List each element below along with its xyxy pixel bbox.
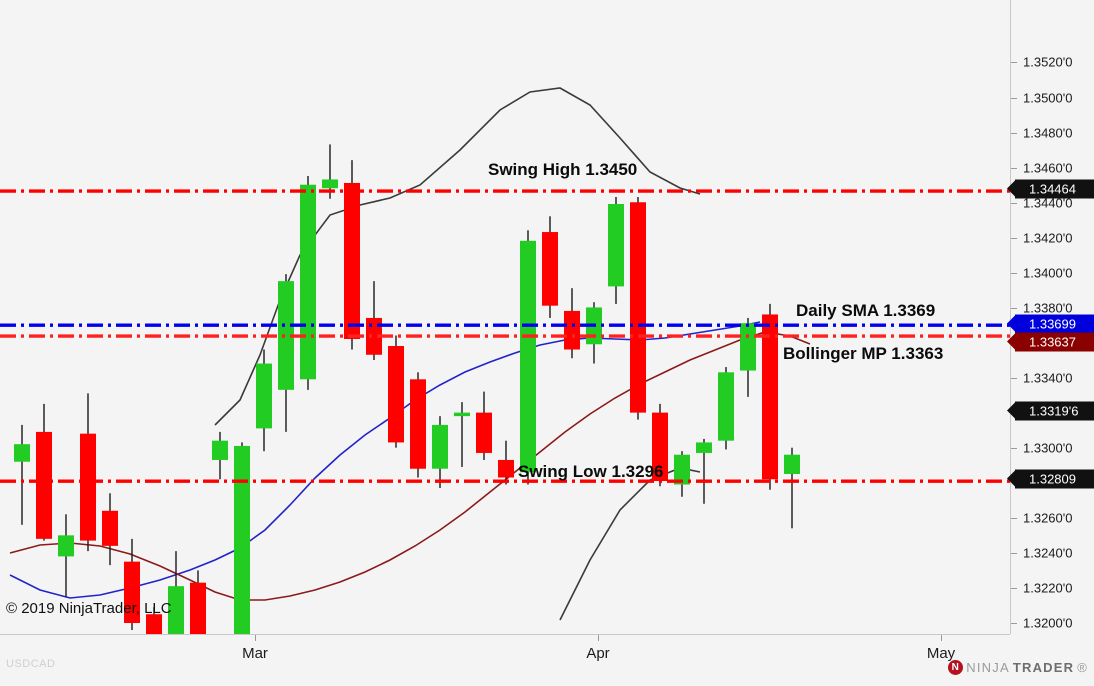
- candle[interactable]: [674, 451, 690, 497]
- price-marker-badge[interactable]: 1.33699: [1015, 315, 1094, 334]
- price-marker-value: 1.34464: [1029, 182, 1076, 197]
- candle[interactable]: [498, 441, 514, 485]
- price-tick-label: 1.3500'0: [1023, 91, 1072, 106]
- chart-application: 2/11/2019 - 4/9/2019 USD/CAD 4/9/19 K F …: [0, 0, 1094, 685]
- series-line: [10, 322, 760, 598]
- price-marker-value: 1.33637: [1029, 335, 1076, 350]
- price-marker-value: 1.33699: [1029, 317, 1076, 332]
- price-tick-label: 1.3220'0: [1023, 581, 1072, 596]
- bollinger-mp-label: Bollinger MP 1.3363: [783, 344, 943, 364]
- price-tick-label: 1.3480'0: [1023, 126, 1072, 141]
- logo-trademark: ®: [1077, 660, 1088, 675]
- price-marker-value: 1.32809: [1029, 472, 1076, 487]
- price-marker-badge[interactable]: 1.33637: [1015, 333, 1094, 352]
- candle[interactable]: [256, 350, 272, 452]
- candle[interactable]: [190, 570, 206, 634]
- swing-low-label: Swing Low 1.3296: [518, 462, 664, 482]
- candle[interactable]: [476, 392, 492, 460]
- candle[interactable]: [168, 551, 184, 634]
- candle[interactable]: [366, 281, 382, 360]
- symbol-watermark: USDCAD: [6, 658, 55, 670]
- time-tick-label: Apr: [586, 645, 609, 662]
- candle[interactable]: [102, 493, 118, 565]
- price-tick-mark: [1011, 588, 1017, 589]
- time-tick-mark: [598, 635, 599, 641]
- price-tick-mark: [1011, 168, 1017, 169]
- price-tick-mark: [1011, 518, 1017, 519]
- candle[interactable]: [740, 318, 756, 397]
- time-axis[interactable]: MarAprMay: [0, 634, 1010, 686]
- price-tick-mark: [1011, 553, 1017, 554]
- price-tick-mark: [1011, 133, 1017, 134]
- candle[interactable]: [80, 393, 96, 551]
- candle[interactable]: [608, 197, 624, 304]
- price-marker-value: 1.3319'6: [1029, 404, 1078, 419]
- price-marker-badge[interactable]: 1.34464: [1015, 180, 1094, 199]
- time-tick-mark: [941, 635, 942, 641]
- price-axis[interactable]: 1.3520'01.3500'01.3480'01.3460'01.3440'0…: [1010, 0, 1094, 634]
- candle[interactable]: [36, 404, 52, 541]
- candle[interactable]: [234, 442, 250, 634]
- candle[interactable]: [564, 288, 580, 358]
- candle[interactable]: [410, 372, 426, 477]
- price-chart-plot-area[interactable]: Swing High 1.3450Daily SMA 1.3369Bolling…: [0, 0, 1010, 634]
- price-tick-mark: [1011, 62, 1017, 63]
- time-tick-label: Mar: [242, 645, 268, 662]
- price-tick-mark: [1011, 623, 1017, 624]
- candle[interactable]: [784, 448, 800, 529]
- price-tick-label: 1.3380'0: [1023, 301, 1072, 316]
- price-tick-label: 1.3240'0: [1023, 546, 1072, 561]
- price-tick-mark: [1011, 238, 1017, 239]
- daily-sma-label: Daily SMA 1.3369: [796, 301, 935, 321]
- candle[interactable]: [718, 367, 734, 449]
- price-tick-label: 1.3200'0: [1023, 616, 1072, 631]
- candle[interactable]: [630, 197, 646, 420]
- candle[interactable]: [762, 304, 778, 490]
- candle[interactable]: [300, 176, 316, 390]
- price-tick-label: 1.3340'0: [1023, 371, 1072, 386]
- candle[interactable]: [542, 216, 558, 318]
- price-marker-badge[interactable]: 1.3319'6: [1015, 402, 1094, 421]
- candle[interactable]: [344, 160, 360, 349]
- swing-high-label: Swing High 1.3450: [488, 160, 637, 180]
- price-tick-mark: [1011, 308, 1017, 309]
- price-tick-label: 1.3300'0: [1023, 441, 1072, 456]
- candle[interactable]: [432, 416, 448, 488]
- candle[interactable]: [586, 302, 602, 363]
- price-tick-label: 1.3260'0: [1023, 511, 1072, 526]
- price-tick-label: 1.3420'0: [1023, 231, 1072, 246]
- time-tick-mark: [255, 635, 256, 641]
- candle[interactable]: [278, 274, 294, 432]
- series-line: [560, 468, 700, 620]
- copyright-label: © 2019 NinjaTrader, LLC: [6, 600, 172, 617]
- price-tick-mark: [1011, 273, 1017, 274]
- candle[interactable]: [388, 335, 404, 447]
- logo-text-bold: TRADER: [1013, 660, 1074, 675]
- candle[interactable]: [58, 514, 74, 596]
- candle[interactable]: [520, 230, 536, 484]
- price-tick-mark: [1011, 448, 1017, 449]
- price-tick-mark: [1011, 98, 1017, 99]
- price-marker-badge[interactable]: 1.32809: [1015, 470, 1094, 489]
- price-tick-label: 1.3520'0: [1023, 55, 1072, 70]
- ninjatrader-logo-icon: [948, 660, 963, 675]
- price-tick-mark: [1011, 203, 1017, 204]
- candle[interactable]: [14, 425, 30, 525]
- ninjatrader-logo: NINJA TRADER ®: [948, 660, 1088, 675]
- price-tick-label: 1.3400'0: [1023, 266, 1072, 281]
- candle[interactable]: [212, 432, 228, 479]
- candle[interactable]: [454, 402, 470, 467]
- price-tick-mark: [1011, 378, 1017, 379]
- price-tick-label: 1.3460'0: [1023, 161, 1072, 176]
- logo-text-light: NINJA: [966, 660, 1010, 675]
